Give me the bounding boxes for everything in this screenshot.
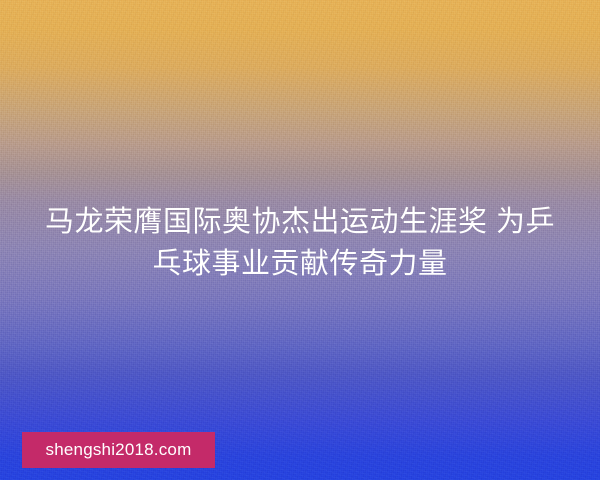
headline-line-1: 马龙荣膺国际奥协杰出运动生涯奖 为乒 xyxy=(24,201,576,243)
site-watermark-badge[interactable]: shengshi2018.com xyxy=(22,432,215,468)
headline-line-2: 乓球事业贡献传奇力量 xyxy=(24,243,576,285)
headline-title: 马龙荣膺国际奥协杰出运动生涯奖 为乒 乓球事业贡献传奇力量 xyxy=(0,201,600,285)
site-watermark-label: shengshi2018.com xyxy=(46,440,192,460)
banner-canvas: 马龙荣膺国际奥协杰出运动生涯奖 为乒 乓球事业贡献传奇力量 shengshi20… xyxy=(0,0,600,480)
